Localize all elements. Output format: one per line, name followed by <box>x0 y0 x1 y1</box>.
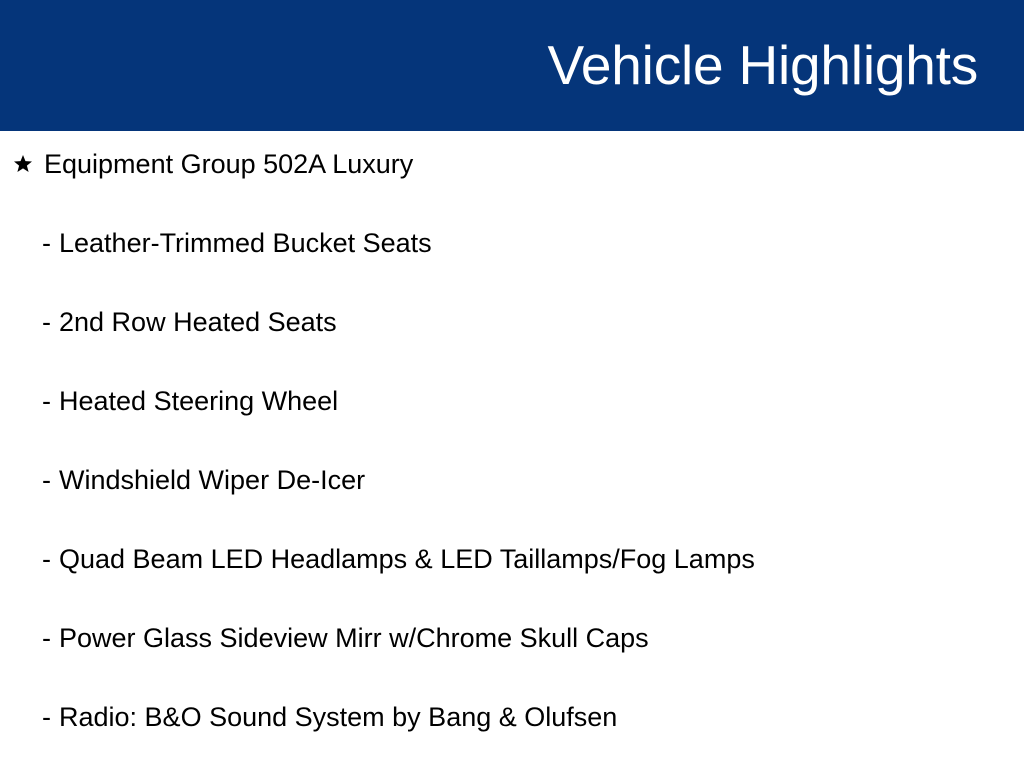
list-item-label: Quad Beam LED Headlamps & LED Taillamps/… <box>59 544 755 574</box>
star-icon <box>12 149 34 179</box>
list-item: - Heated Steering Wheel <box>12 386 1004 465</box>
dash-marker: - <box>42 623 51 653</box>
list-item: - Windshield Wiper De-Icer <box>12 465 1004 544</box>
list-item: - Leather-Trimmed Bucket Seats <box>12 228 1004 307</box>
page-title: Vehicle Highlights <box>547 37 978 95</box>
dash-marker: - <box>42 465 51 495</box>
dash-marker: - <box>42 386 51 416</box>
list-item: - Radio: B&O Sound System by Bang & Oluf… <box>12 702 1004 781</box>
list-item: - 2nd Row Heated Seats <box>12 307 1004 386</box>
list-item-label: Radio: B&O Sound System by Bang & Olufse… <box>59 702 617 732</box>
dash-marker: - <box>42 702 51 732</box>
list-item-label: Equipment Group 502A Luxury <box>44 149 413 179</box>
slide: Vehicle Highlights Equipment Group 502A … <box>0 0 1024 768</box>
bullet-list: Equipment Group 502A Luxury - Leather-Tr… <box>0 131 1024 768</box>
title-banner: Vehicle Highlights <box>0 0 1024 131</box>
dash-marker: - <box>42 307 51 337</box>
dash-marker: - <box>42 544 51 574</box>
list-item: - Quad Beam LED Headlamps & LED Taillamp… <box>12 544 1004 623</box>
list-item: Equipment Group 502A Luxury <box>12 149 1004 228</box>
list-item-label: Windshield Wiper De-Icer <box>59 465 365 495</box>
list-item-label: 2nd Row Heated Seats <box>59 307 337 337</box>
list-item-label: Heated Steering Wheel <box>59 386 338 416</box>
list-item: - Power Glass Sideview Mirr w/Chrome Sku… <box>12 623 1004 702</box>
list-item-label: Leather-Trimmed Bucket Seats <box>59 228 432 258</box>
list-item-label: Power Glass Sideview Mirr w/Chrome Skull… <box>59 623 649 653</box>
dash-marker: - <box>42 228 51 258</box>
